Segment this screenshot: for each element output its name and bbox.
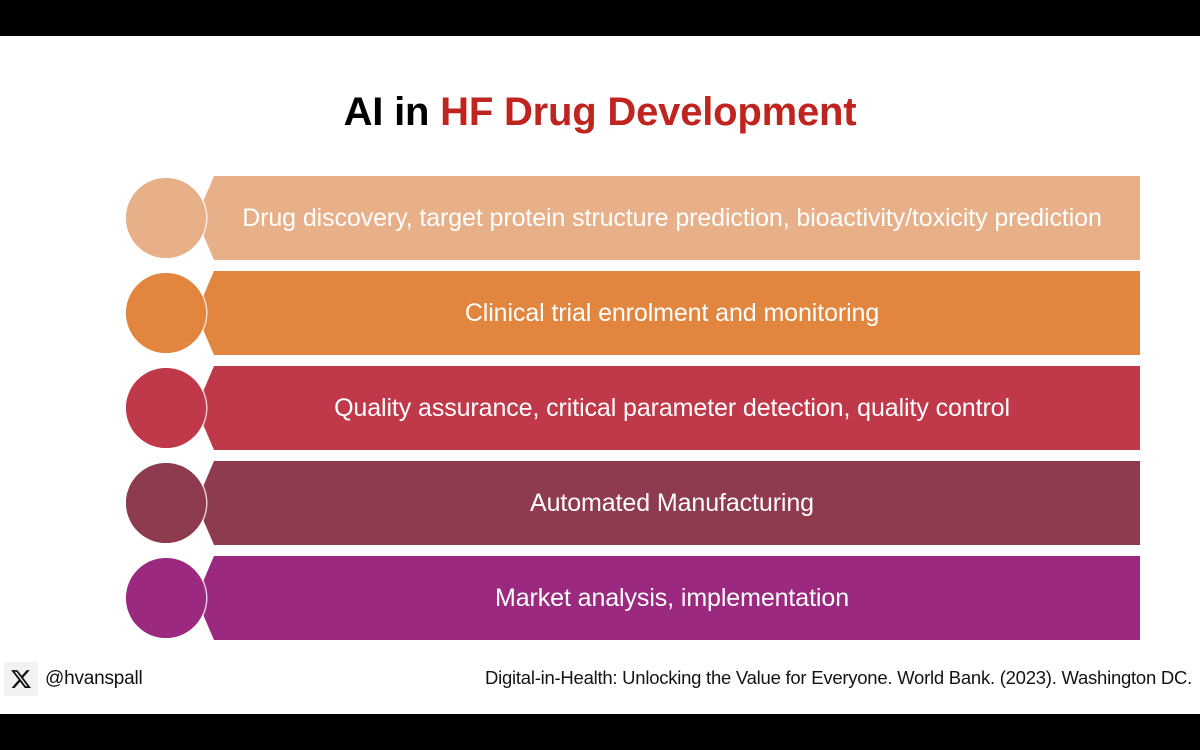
process-bar-circle (126, 558, 206, 638)
social-handle-text: @hvanspall (45, 668, 143, 690)
process-bar-circle (126, 273, 206, 353)
process-bar-circle (126, 368, 206, 448)
process-bar-body: Clinical trial enrolment and monitoring (196, 271, 1140, 355)
process-bar-item[interactable]: Market analysis, implementation (0, 556, 1200, 640)
process-bar-body: Automated Manufacturing (196, 461, 1140, 545)
slide-title-highlight: HF Drug Development (440, 90, 856, 134)
process-bar-label: Automated Manufacturing (530, 488, 814, 519)
process-bar-circle (126, 178, 206, 258)
social-handle-block[interactable]: @hvanspall (4, 662, 143, 696)
process-bar-item[interactable]: Quality assurance, critical parameter de… (0, 366, 1200, 450)
letterbox-bottom (0, 714, 1200, 750)
process-bar-circle (126, 463, 206, 543)
process-bar-body: Drug discovery, target protein structure… (196, 176, 1140, 260)
process-bar-label: Quality assurance, critical parameter de… (334, 393, 1010, 424)
slide-canvas: AI in HF Drug Development Drug discovery… (0, 36, 1200, 714)
process-bar-body: Market analysis, implementation (196, 556, 1140, 640)
process-bar-item[interactable]: Automated Manufacturing (0, 461, 1200, 545)
slide-footer: @hvanspall Digital-in-Health: Unlocking … (0, 648, 1200, 714)
presentation-screen: AI in HF Drug Development Drug discovery… (0, 0, 1200, 750)
process-bar-label: Drug discovery, target protein structure… (242, 203, 1102, 234)
letterbox-top (0, 0, 1200, 36)
slide-title: AI in HF Drug Development (0, 92, 1200, 132)
x-twitter-icon (4, 662, 38, 696)
process-bar-label: Market analysis, implementation (495, 583, 849, 614)
process-bar-item[interactable]: Drug discovery, target protein structure… (0, 176, 1200, 260)
process-bar-list: Drug discovery, target protein structure… (0, 176, 1200, 651)
process-bar-body: Quality assurance, critical parameter de… (196, 366, 1140, 450)
process-bar-item[interactable]: Clinical trial enrolment and monitoring (0, 271, 1200, 355)
process-bar-label: Clinical trial enrolment and monitoring (465, 298, 879, 329)
slide-title-prefix: AI in (344, 90, 441, 134)
citation-text: Digital-in-Health: Unlocking the Value f… (485, 667, 1192, 689)
